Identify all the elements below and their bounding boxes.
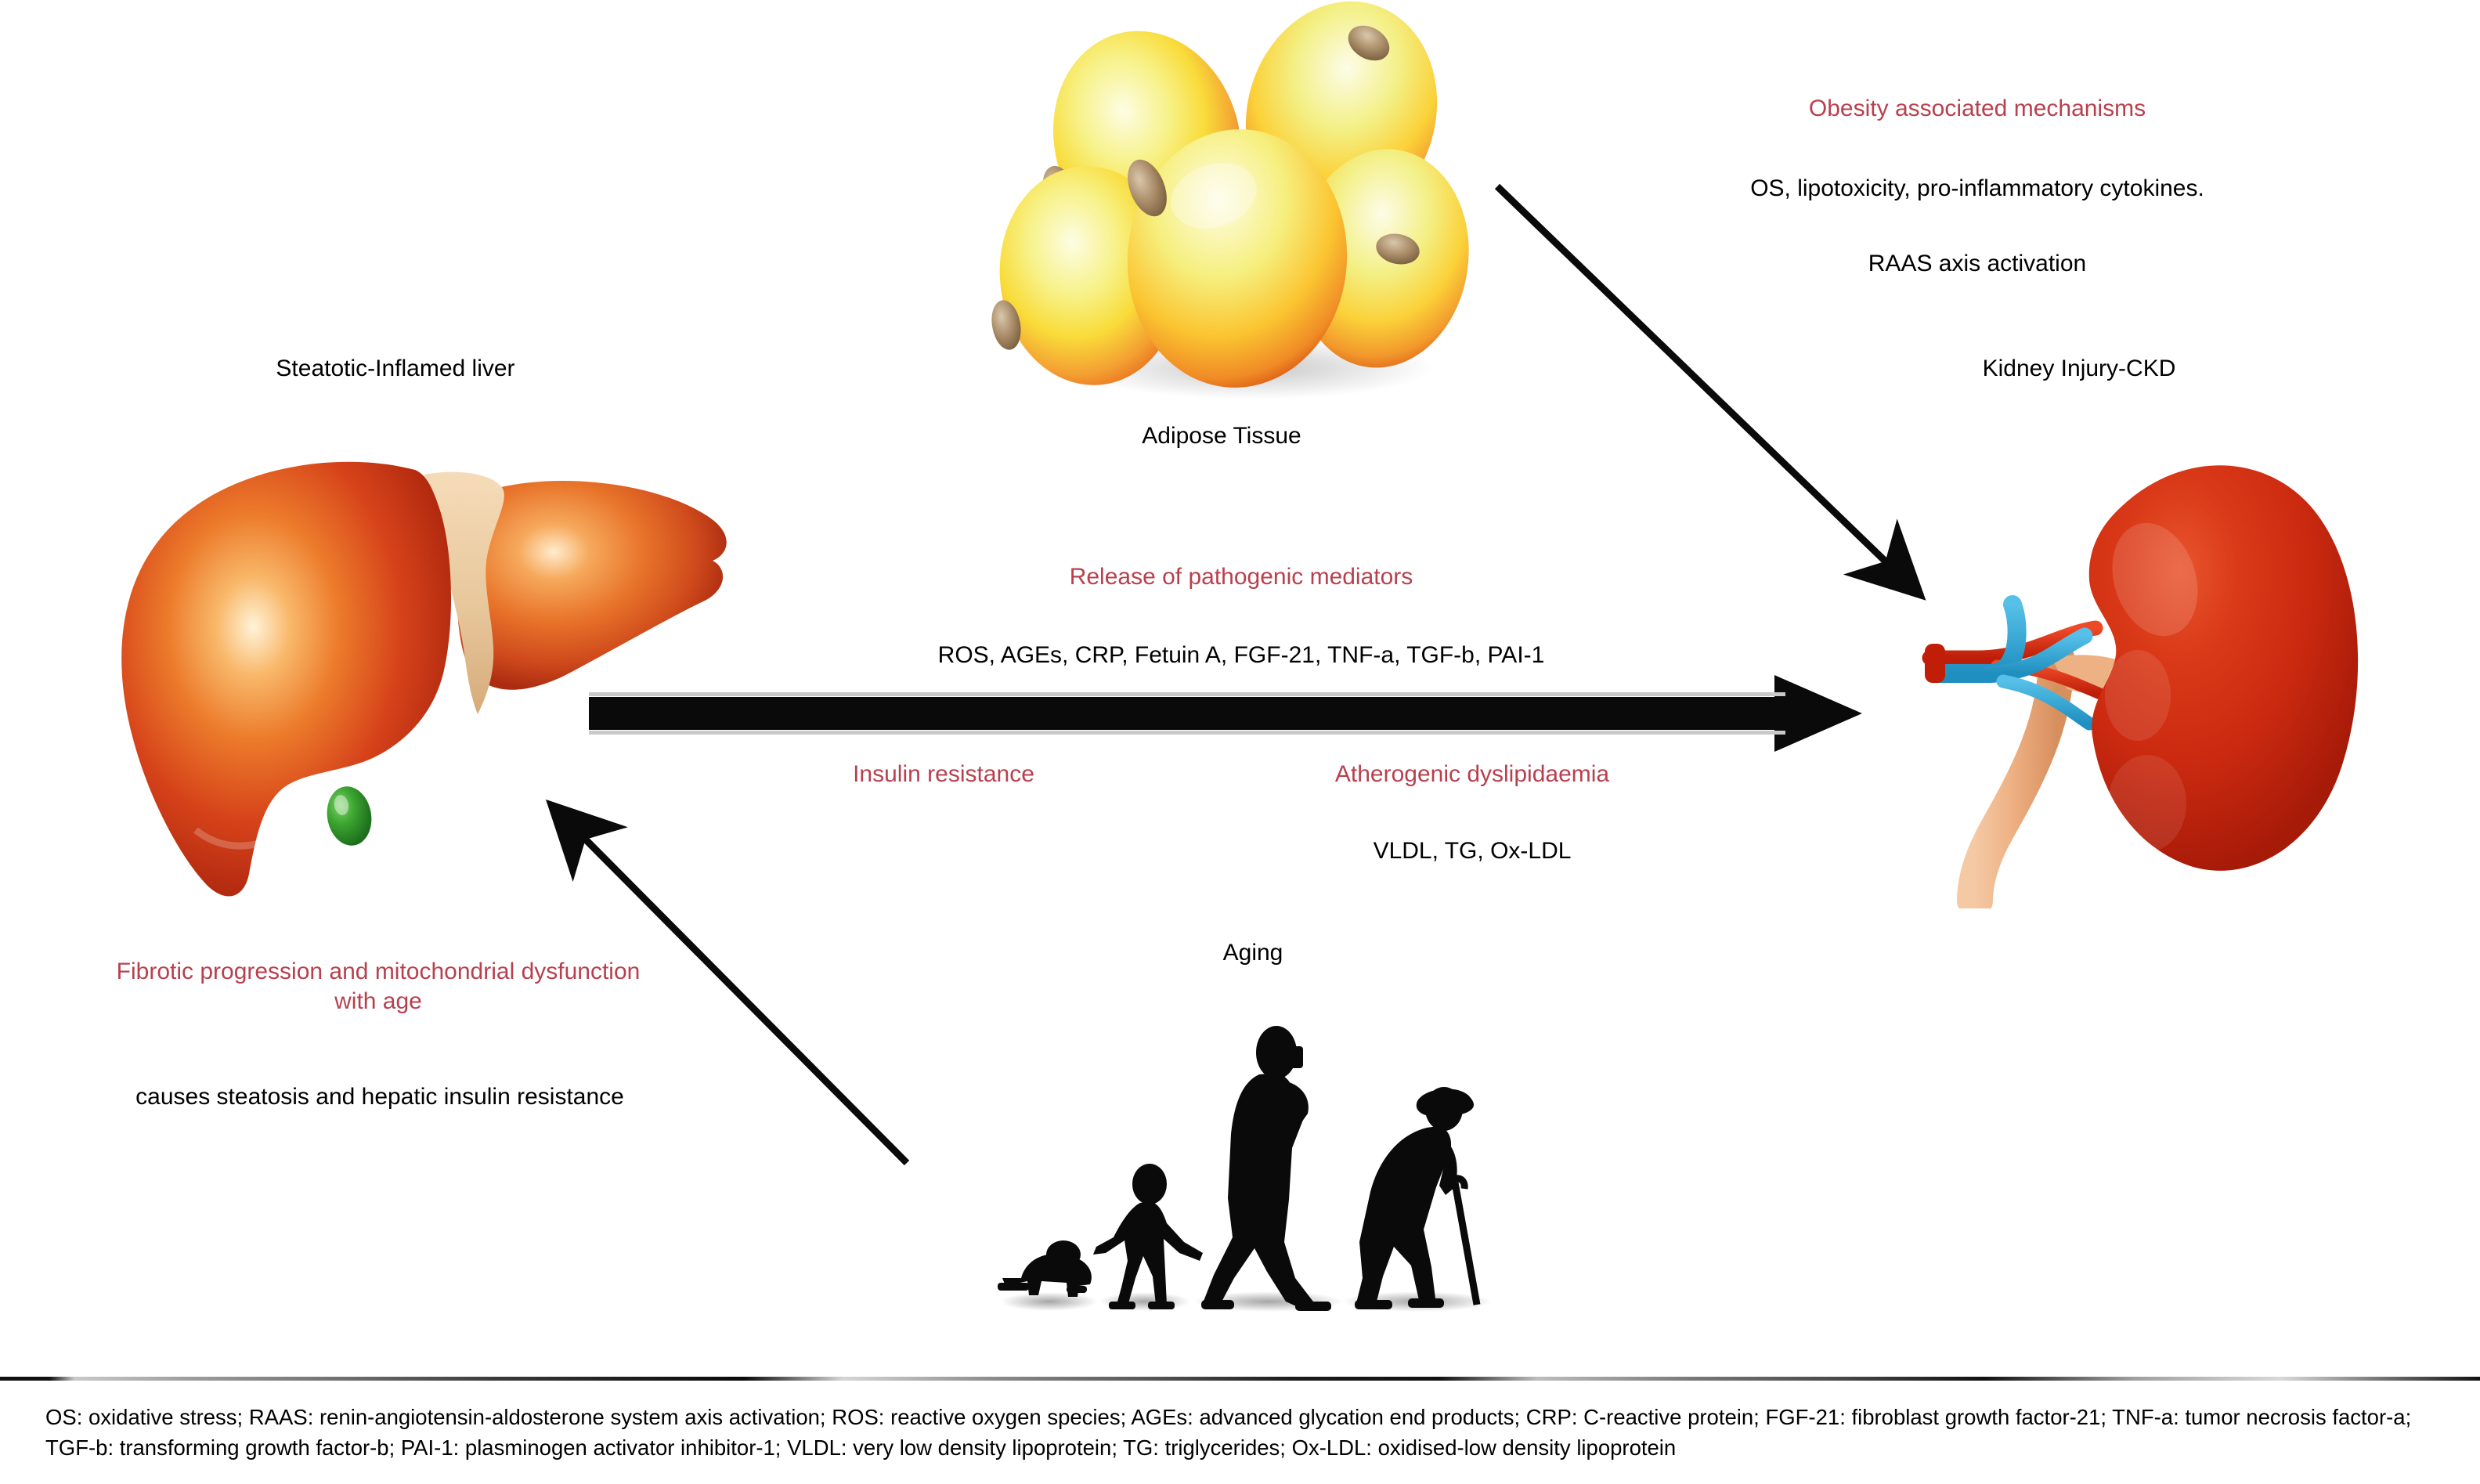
mediators-line-1-wrap: ROS, AGEs, CRP, Fetuin A, FGF-21, TNF-a,… xyxy=(850,641,1633,670)
liver-illustration xyxy=(102,423,760,908)
mediators-heading: Release of pathogenic mediators xyxy=(885,562,1597,592)
dyslipidaemia-line-1: VLDL, TG, Ox-LDL xyxy=(1316,836,1629,866)
footnote-abbreviations: OS: oxidative stress; RAAS: renin-angiot… xyxy=(45,1402,2442,1463)
label-adipose-tissue: Adipose Tissue xyxy=(1057,421,1386,451)
block-fibrotic-progression: Fibrotic progression and mitochondrial d… xyxy=(53,957,703,1016)
footnote-divider xyxy=(0,1377,2480,1381)
kidney-illustration xyxy=(1903,423,2451,908)
label-liver: Steatotic-Inflamed liver xyxy=(231,354,560,384)
block-obesity-mechanisms: Obesity associated mechanisms xyxy=(1715,94,2240,124)
fibrosis-line-1: causes steatosis and hepatic insulin res… xyxy=(55,1082,705,1112)
obesity-heading: Obesity associated mechanisms xyxy=(1715,94,2240,124)
block-atherogenic-dyslipidaemia: Atherogenic dyslipidaemia xyxy=(1300,760,1644,789)
arrow-adipose-to-kidney xyxy=(1497,186,1911,586)
fibrosis-heading-line-2: with age xyxy=(53,987,703,1016)
arrow-liver-to-kidney xyxy=(589,675,1862,752)
fibrosis-line-1-wrap: causes steatosis and hepatic insulin res… xyxy=(55,1082,705,1112)
mediators-line-1: ROS, AGEs, CRP, Fetuin A, FGF-21, TNF-a,… xyxy=(850,641,1633,670)
obesity-line-1-wrap: OS, lipotoxicity, pro-inflammatory cytok… xyxy=(1668,174,2287,204)
obesity-line-1: OS, lipotoxicity, pro-inflammatory cytok… xyxy=(1668,174,2287,204)
aging-silhouettes-illustration xyxy=(979,1002,1527,1323)
adipose-tissue-illustration xyxy=(955,0,1519,407)
obesity-line-2-wrap: RAAS axis activation xyxy=(1715,249,2240,279)
label-aging: Aging xyxy=(1155,938,1351,968)
label-kidney: Kidney Injury-CKD xyxy=(1883,354,2275,384)
obesity-line-2: RAAS axis activation xyxy=(1715,249,2240,279)
block-pathogenic-mediators: Release of pathogenic mediators xyxy=(885,562,1597,592)
block-insulin-resistance: Insulin resistance xyxy=(787,760,1100,789)
dyslipidaemia-line-1-wrap: VLDL, TG, Ox-LDL xyxy=(1316,836,1629,866)
fibrosis-heading-line-1: Fibrotic progression and mitochondrial d… xyxy=(53,957,703,987)
figure-canvas: Steatotic-Inflamed liver Adipose Tissue … xyxy=(0,0,2480,1484)
insulin-heading: Insulin resistance xyxy=(787,760,1100,789)
dyslipidaemia-heading: Atherogenic dyslipidaemia xyxy=(1300,760,1644,789)
